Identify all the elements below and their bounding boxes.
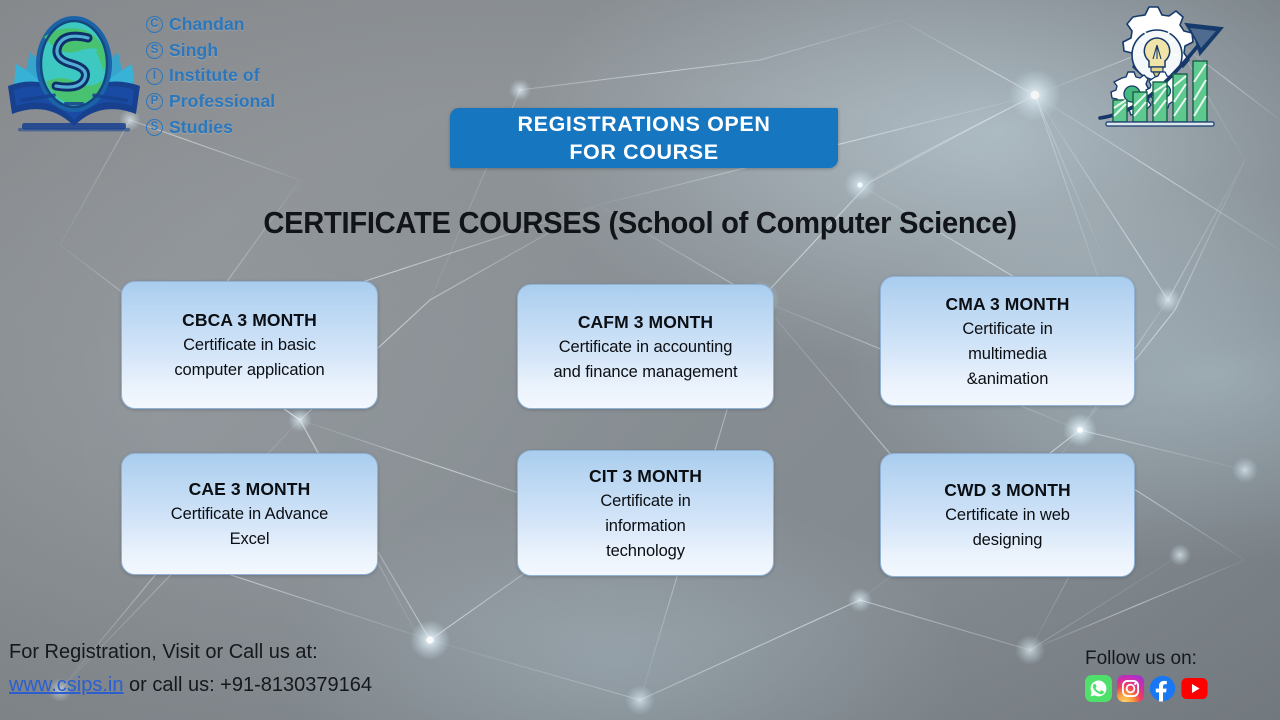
course-description: Certificate in accountingand finance man… bbox=[553, 335, 737, 385]
course-description: Certificate ininformationtechnology bbox=[600, 489, 690, 564]
contact-line: www.csips.in or call us: +91-8130379164 bbox=[9, 669, 372, 702]
course-card-cae[interactable]: CAE 3 MONTH Certificate in AdvanceExcel bbox=[121, 453, 378, 575]
registration-contact-block: For Registration, Visit or Call us at: w… bbox=[9, 636, 372, 702]
website-link[interactable]: www.csips.in bbox=[9, 674, 123, 696]
course-description: Certificate in webdesigning bbox=[945, 503, 1070, 553]
course-card-grid: CBCA 3 MONTH Certificate in basiccompute… bbox=[0, 0, 1280, 720]
course-card-cit[interactable]: CIT 3 MONTH Certificate ininformationtec… bbox=[517, 450, 774, 576]
facebook-icon[interactable] bbox=[1149, 675, 1176, 702]
course-code: CAFM 3 MONTH bbox=[578, 309, 713, 335]
course-card-cwd[interactable]: CWD 3 MONTH Certificate in webdesigning bbox=[880, 453, 1135, 577]
course-code: CMA 3 MONTH bbox=[946, 291, 1070, 317]
follow-us-label: Follow us on: bbox=[1085, 646, 1208, 672]
instagram-icon[interactable] bbox=[1117, 675, 1144, 702]
poster-canvas: C Chandan S Singh I Institute of P Profe… bbox=[0, 0, 1280, 720]
course-description: Certificate in AdvanceExcel bbox=[171, 502, 328, 552]
phone-text: or call us: +91-8130379164 bbox=[123, 674, 372, 696]
course-description: Certificate inmultimedia&animation bbox=[962, 317, 1052, 392]
whatsapp-icon[interactable] bbox=[1085, 675, 1112, 702]
course-card-cbca[interactable]: CBCA 3 MONTH Certificate in basiccompute… bbox=[121, 281, 378, 409]
course-card-cma[interactable]: CMA 3 MONTH Certificate inmultimedia&ani… bbox=[880, 276, 1135, 406]
course-code: CAE 3 MONTH bbox=[189, 476, 311, 502]
registration-instruction: For Registration, Visit or Call us at: bbox=[9, 636, 372, 669]
course-code: CIT 3 MONTH bbox=[589, 463, 702, 489]
course-card-cafm[interactable]: CAFM 3 MONTH Certificate in accountingan… bbox=[517, 284, 774, 409]
social-icon-row bbox=[1085, 675, 1208, 702]
course-code: CBCA 3 MONTH bbox=[182, 307, 317, 333]
youtube-icon[interactable] bbox=[1181, 675, 1208, 702]
follow-us-block: Follow us on: bbox=[1085, 646, 1208, 702]
course-description: Certificate in basiccomputer application bbox=[174, 333, 324, 383]
course-code: CWD 3 MONTH bbox=[944, 477, 1071, 503]
